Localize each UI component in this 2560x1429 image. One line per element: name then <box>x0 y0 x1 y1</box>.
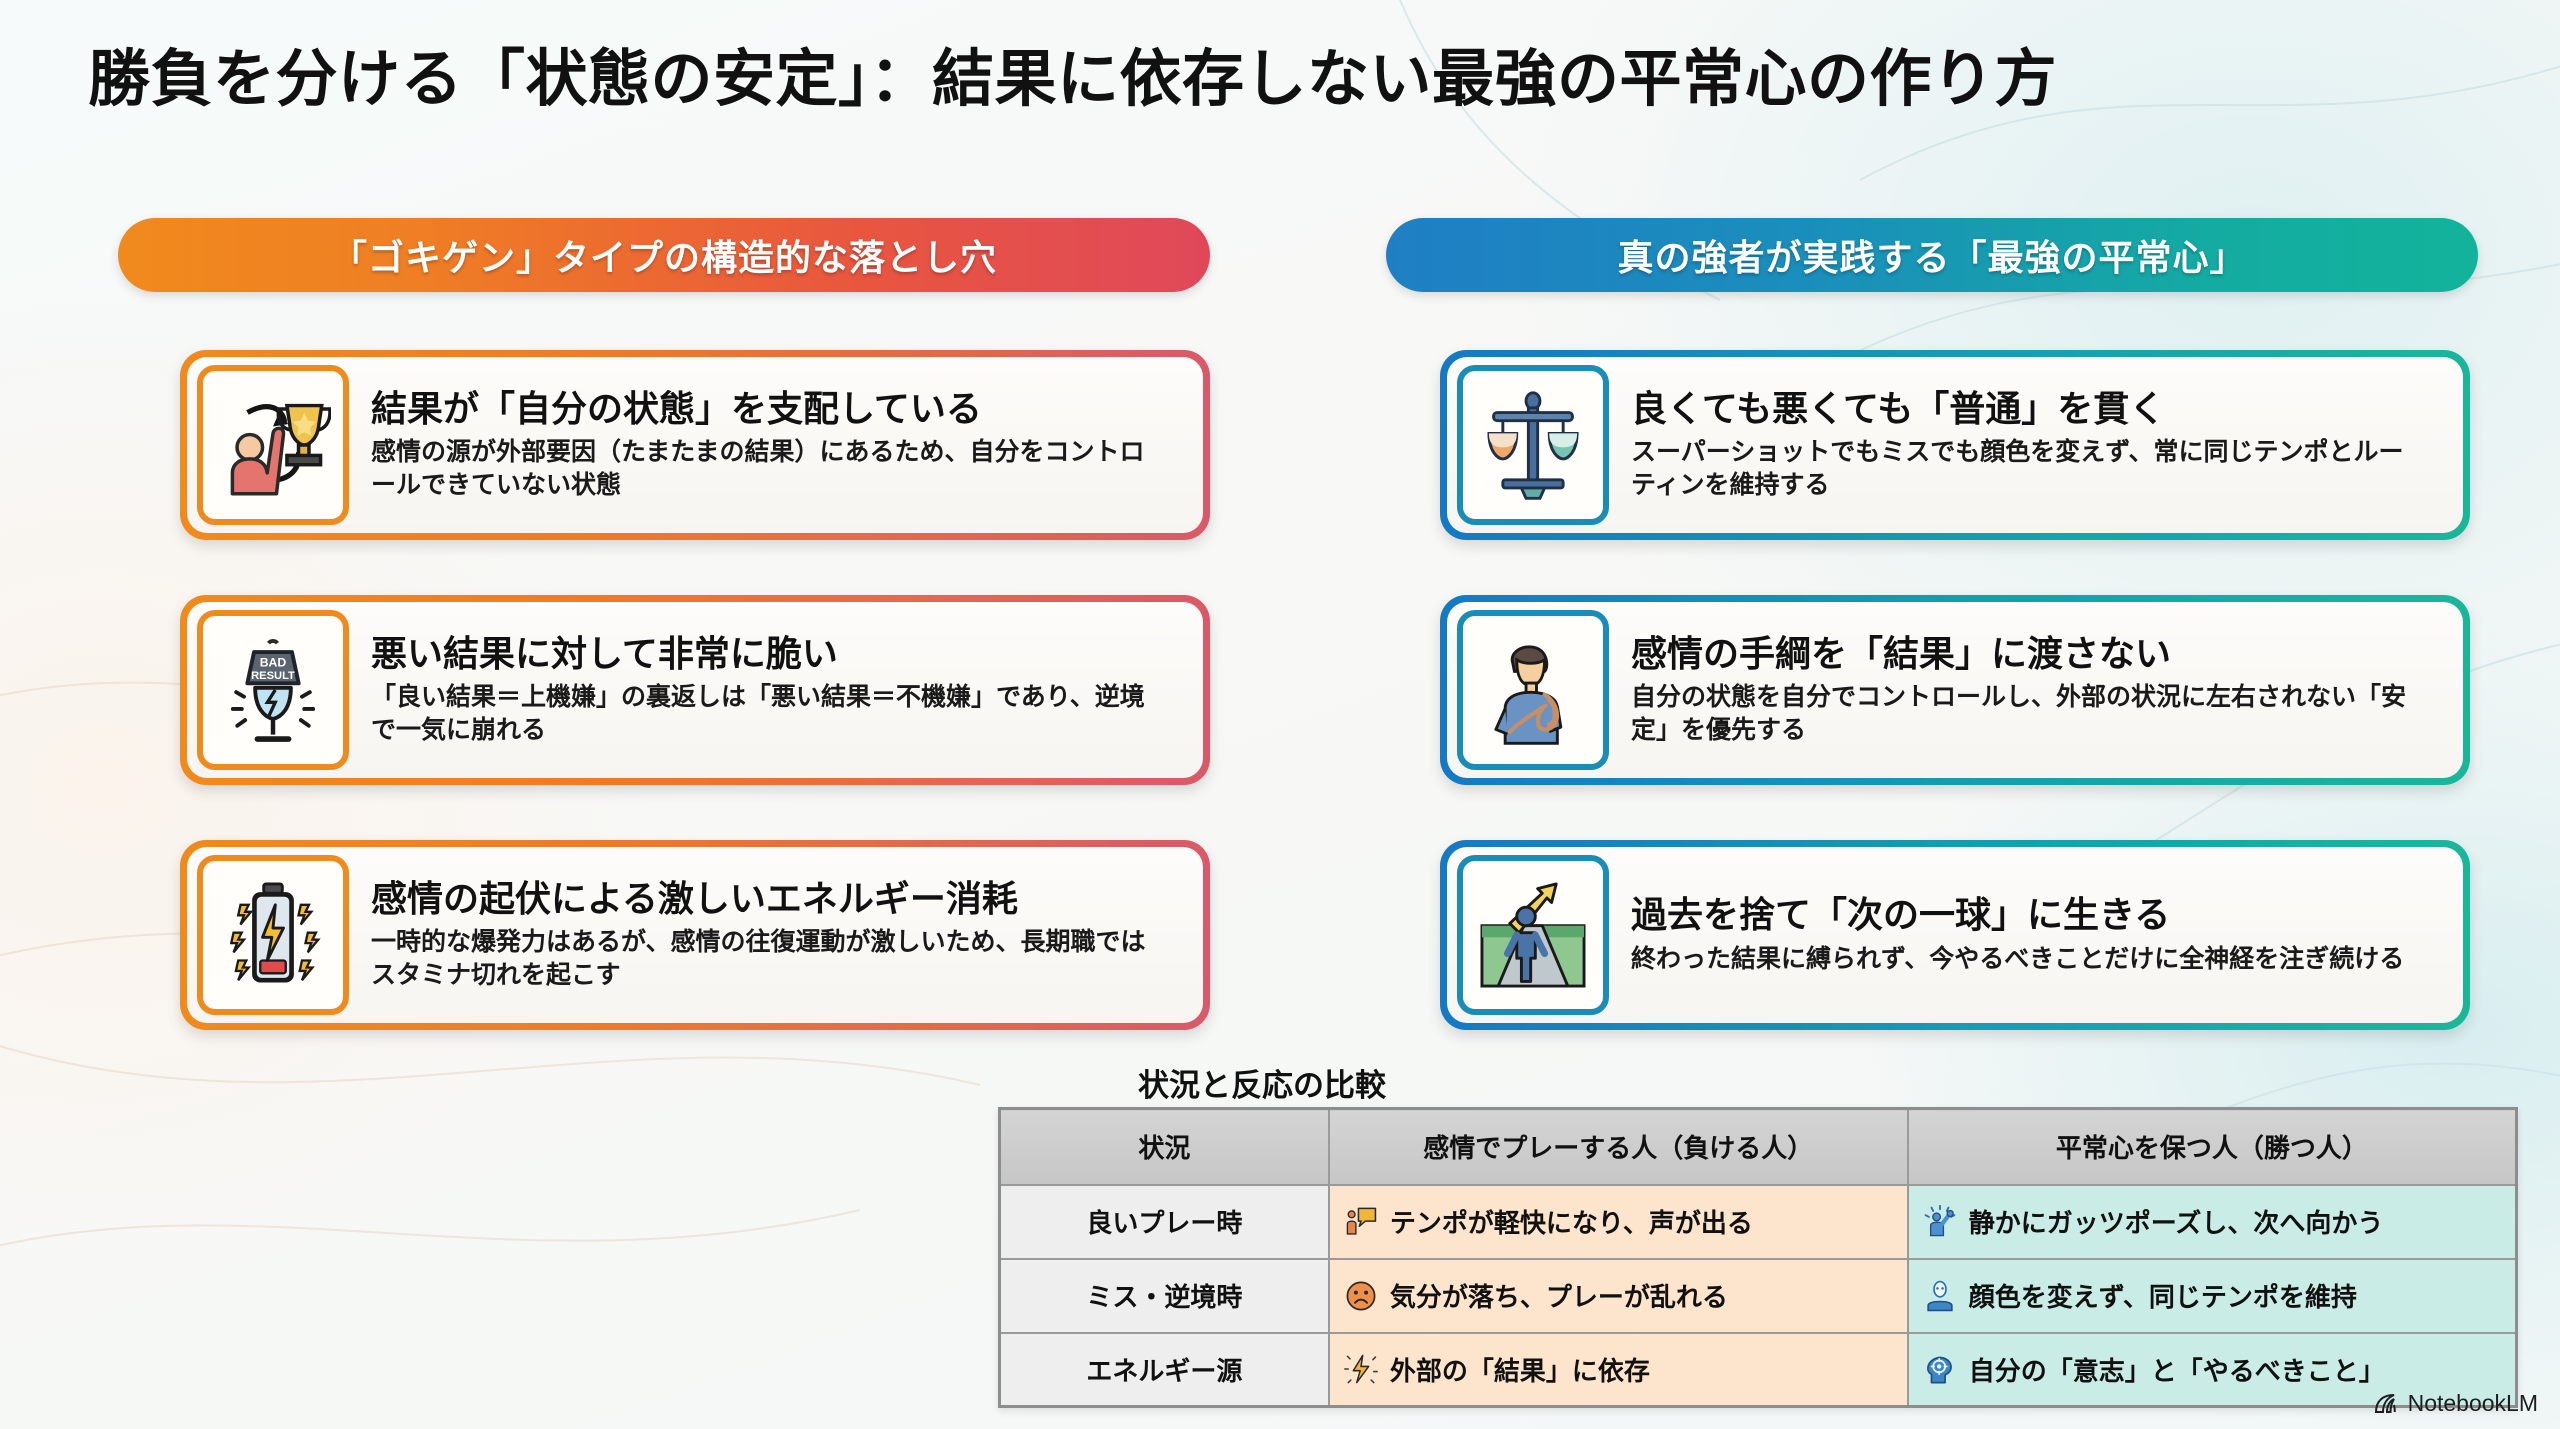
banner-left-column: 「ゴキゲン」タイプの構造的な落とし穴 <box>118 218 1210 292</box>
banner-right-label: 真の強者が実践する「最強の平常心」 <box>1617 229 2246 281</box>
cell-calm-text: 自分の「意志」と「やるべきこと」 <box>1969 1351 2385 1388</box>
sad-face-icon <box>1344 1279 1378 1313</box>
card-title: 過去を捨て「次の一球」に生きる <box>1631 894 2404 936</box>
card-description: 一時的な爆発力はあるが、感情の往復運動が激しいため、長期職ではスタミナ切れを起こ… <box>371 926 1161 992</box>
card-title: 結果が「自分の状態」を支配している <box>371 388 1161 430</box>
person-holding-reins-icon <box>1457 610 1609 770</box>
calm-person-icon <box>1923 1279 1957 1313</box>
card-right-2[interactable]: 感情の手綱を「結果」に渡さない 自分の状態を自分でコントロールし、外部の状況に左… <box>1440 595 2470 785</box>
cell-emotional-text: テンポが軽快になり、声が出る <box>1390 1203 1753 1240</box>
cell-calm: 顔色を変えず、同じテンポを維持 <box>1908 1259 2517 1333</box>
table-row: 良いプレー時 テンポが軽快になり、声が出る <box>1000 1185 2517 1259</box>
balance-scale-icon <box>1457 365 1609 525</box>
cell-emotional: 気分が落ち、プレーが乱れる <box>1329 1259 1908 1333</box>
card-description: 終わった結果に縛られず、今やるべきことだけに全神経を注ぎ続ける <box>1631 943 2404 976</box>
card-title: 悪い結果に対して非常に脆い <box>371 633 1161 675</box>
card-text: 過去を捨て「次の一球」に生きる 終わった結果に縛られず、今やるべきことだけに全神… <box>1631 894 2430 976</box>
comparison-table-title: 状況と反応の比較 <box>1138 1060 1386 1105</box>
card-text: 感情の起伏による激しいエネルギー消耗 一時的な爆発力はあるが、感情の往復運動が激… <box>371 878 1187 993</box>
card-right-1[interactable]: 良くても悪くても「普通」を貫く スーパーショットでもミスでも顔色を変えず、常に同… <box>1440 350 2470 540</box>
page-title: 勝負を分ける「状態の安定」：結果に依存しない最強の平常心の作り方 <box>88 28 2057 118</box>
cell-calm-text: 顔色を変えず、同じテンポを維持 <box>1969 1277 2357 1314</box>
lightning-spark-icon <box>1344 1352 1378 1386</box>
cell-situation: ミス・逆境時 <box>1000 1259 1329 1333</box>
table-row: ミス・逆境時 気分が落ち、プレーが乱れる <box>1000 1259 2517 1333</box>
cell-emotional-text: 外部の「結果」に依存 <box>1390 1351 1650 1388</box>
person-fist-pump-icon <box>1923 1205 1957 1239</box>
table-row: エネルギー源 外部の「結果」に依存 <box>1000 1333 2517 1407</box>
card-text: 良くても悪くても「普通」を貫く スーパーショットでもミスでも顔色を変えず、常に同… <box>1631 388 2447 503</box>
card-description: 感情の源が外部要因（たまたまの結果）にあるため、自分をコントロールできていない状… <box>371 436 1161 502</box>
notebooklm-watermark: NotebookLM <box>2373 1390 2538 1417</box>
cell-emotional: 外部の「結果」に依存 <box>1329 1333 1908 1407</box>
card-left-3[interactable]: 感情の起伏による激しいエネルギー消耗 一時的な爆発力はあるが、感情の往復運動が激… <box>180 840 1210 1030</box>
cell-calm: 静かにガッツポーズし、次へ向かう <box>1908 1185 2517 1259</box>
comparison-table: 状況 感情でプレーする人（負ける人） 平常心を保つ人（勝つ人） 良いプレー時 テ… <box>998 1107 2518 1408</box>
card-text: 感情の手綱を「結果」に渡さない 自分の状態を自分でコントロールし、外部の状況に左… <box>1631 633 2447 748</box>
person-speech-bubble-icon <box>1344 1205 1378 1239</box>
cell-emotional-text: 気分が落ち、プレーが乱れる <box>1390 1277 1728 1314</box>
bad-result-weight-glass-icon: BAD RESULT <box>197 610 349 770</box>
card-description: スーパーショットでもミスでも顔色を変えず、常に同じテンポとルーティンを維持する <box>1631 436 2421 502</box>
table-header-emotional: 感情でプレーする人（負ける人） <box>1329 1109 1908 1185</box>
battery-lightning-icon <box>197 855 349 1015</box>
svg-text:BAD: BAD <box>260 656 287 670</box>
cell-situation: 良いプレー時 <box>1000 1185 1329 1259</box>
notebooklm-logo-icon <box>2373 1391 2399 1417</box>
card-description: 自分の状態を自分でコントロールし、外部の状況に左右されない「安定」を優先する <box>1631 681 2421 747</box>
svg-text:RESULT: RESULT <box>251 670 295 682</box>
card-title: 感情の起伏による激しいエネルギー消耗 <box>371 878 1161 920</box>
cell-emotional: テンポが軽快になり、声が出る <box>1329 1185 1908 1259</box>
card-title: 良くても悪くても「普通」を貫く <box>1631 388 2421 430</box>
head-gear-icon <box>1923 1352 1957 1386</box>
notebooklm-label: NotebookLM <box>2408 1390 2538 1417</box>
trophy-person-icon <box>197 365 349 525</box>
table-header-situation: 状況 <box>1000 1109 1329 1185</box>
card-text: 悪い結果に対して非常に脆い 「良い結果＝上機嫌」の裏返しは「悪い結果＝不機嫌」で… <box>371 633 1187 748</box>
cell-situation: エネルギー源 <box>1000 1333 1329 1407</box>
card-left-2[interactable]: BAD RESULT 悪い結果に対して非常に脆い 「良い結果＝上機嫌」の裏返しは… <box>180 595 1210 785</box>
person-path-arrow-icon <box>1457 855 1609 1015</box>
card-title: 感情の手綱を「結果」に渡さない <box>1631 633 2421 675</box>
table-header-row: 状況 感情でプレーする人（負ける人） 平常心を保つ人（勝つ人） <box>1000 1109 2517 1185</box>
card-right-3[interactable]: 過去を捨て「次の一球」に生きる 終わった結果に縛られず、今やるべきことだけに全神… <box>1440 840 2470 1030</box>
banner-right-column: 真の強者が実践する「最強の平常心」 <box>1386 218 2478 292</box>
card-text: 結果が「自分の状態」を支配している 感情の源が外部要因（たまたまの結果）にあるた… <box>371 388 1187 503</box>
table-header-calm: 平常心を保つ人（勝つ人） <box>1908 1109 2517 1185</box>
banner-left-label: 「ゴキゲン」タイプの構造的な落とし穴 <box>331 229 997 281</box>
cell-calm-text: 静かにガッツポーズし、次へ向かう <box>1969 1203 2384 1240</box>
card-left-1[interactable]: 結果が「自分の状態」を支配している 感情の源が外部要因（たまたまの結果）にあるた… <box>180 350 1210 540</box>
card-description: 「良い結果＝上機嫌」の裏返しは「悪い結果＝不機嫌」であり、逆境で一気に崩れる <box>371 681 1161 747</box>
